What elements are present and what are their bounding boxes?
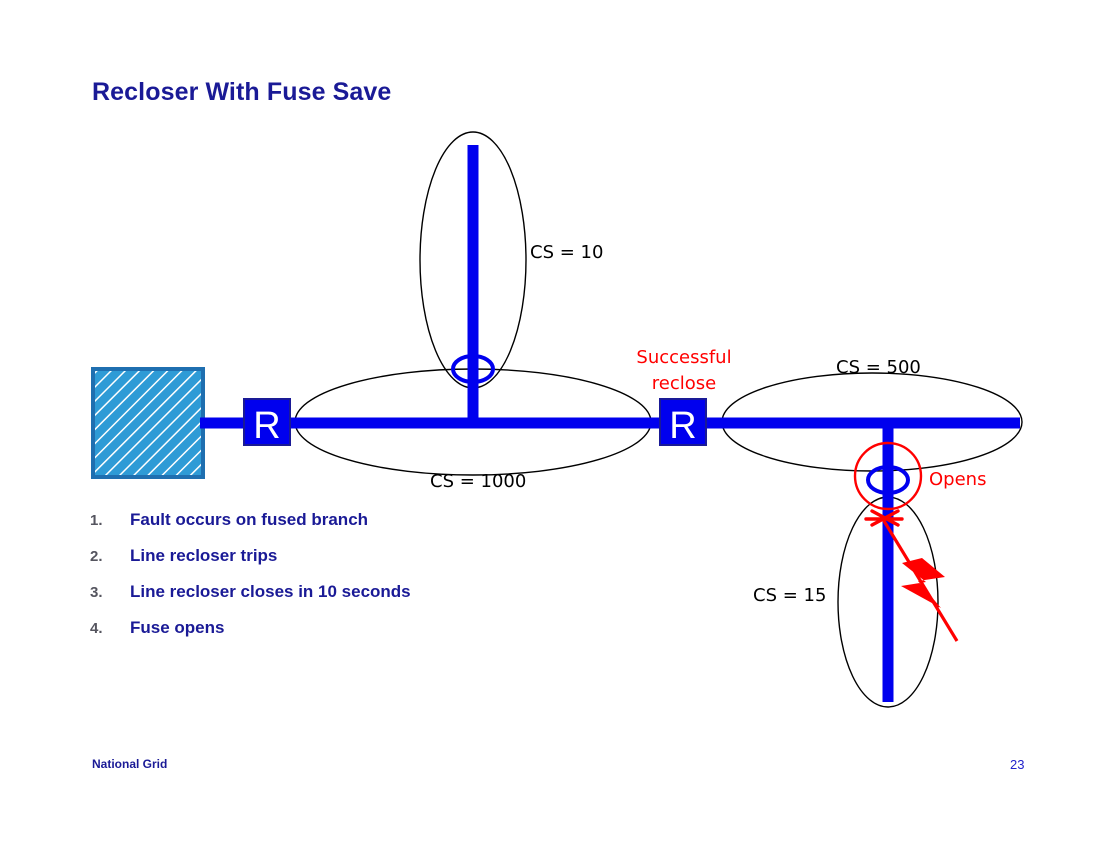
label-cs-main-right: CS = 500 <box>836 357 921 378</box>
list-item: 3. Line recloser closes in 10 seconds <box>90 582 520 618</box>
list-item: 1. Fault occurs on fused branch <box>90 510 520 546</box>
list-item-number: 4. <box>90 620 130 637</box>
reclose-line-1: Successful <box>620 345 748 371</box>
sequence-of-events-list: 1. Fault occurs on fused branch 2. Line … <box>90 510 520 654</box>
list-item-label: Fault occurs on fused branch <box>130 510 368 530</box>
footer-brand: National Grid <box>92 757 167 771</box>
list-item-number: 2. <box>90 548 130 565</box>
one-line-diagram: R R <box>0 0 1115 857</box>
list-item: 4. Fuse opens <box>90 618 520 654</box>
list-item-label: Line recloser trips <box>130 546 277 566</box>
reclose-line-2: reclose <box>620 371 748 397</box>
list-item-number: 3. <box>90 584 130 601</box>
label-successful-reclose: Successful reclose <box>620 345 748 397</box>
list-item-label: Line recloser closes in 10 seconds <box>130 582 411 602</box>
label-cs-main-left: CS = 1000 <box>430 471 526 492</box>
recloser-device-1[interactable]: R <box>244 399 290 447</box>
recloser-device-2[interactable]: R <box>660 399 706 447</box>
label-cs-bottom-branch: CS = 15 <box>753 585 826 606</box>
recloser-label-1: R <box>253 405 280 447</box>
list-item: 2. Line recloser trips <box>90 546 520 582</box>
footer-page-number: 23 <box>1010 757 1024 772</box>
slide-canvas: Recloser With Fuse Save R <box>0 0 1115 857</box>
substation-block <box>93 369 203 477</box>
label-opens: Opens <box>929 467 986 493</box>
list-item-number: 1. <box>90 512 130 529</box>
list-item-label: Fuse opens <box>130 618 224 638</box>
label-cs-top-branch: CS = 10 <box>530 242 603 263</box>
recloser-label-2: R <box>669 405 696 447</box>
